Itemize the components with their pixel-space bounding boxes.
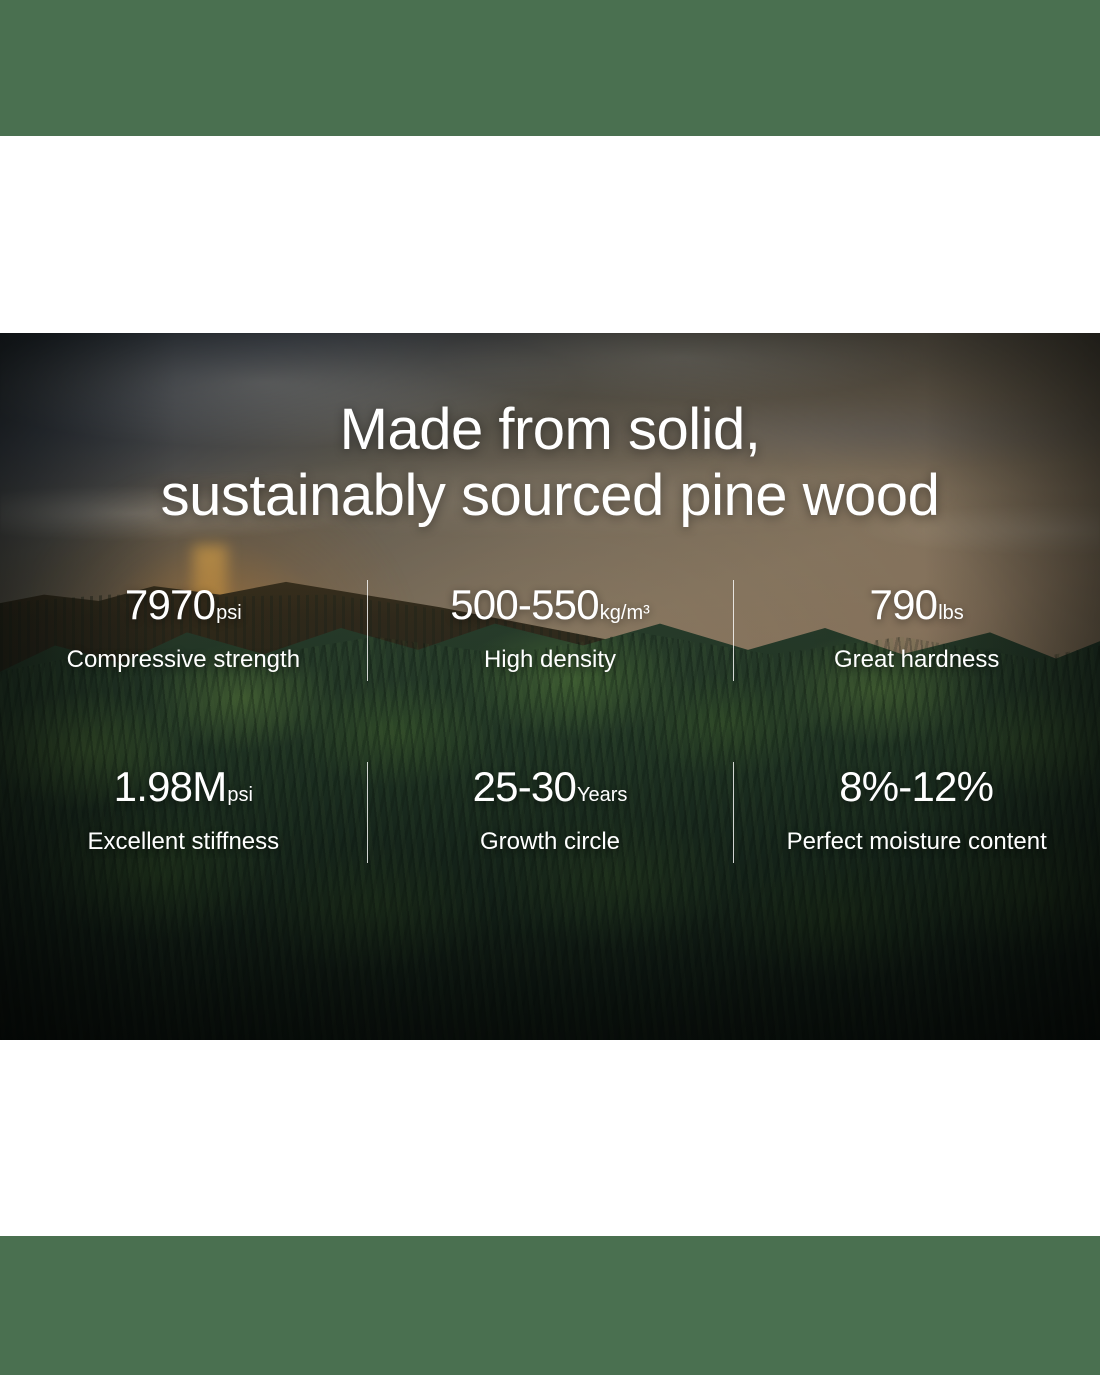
stat-value: 1.98Mpsi xyxy=(114,766,253,808)
page-title: Made from solid, sustainably sourced pin… xyxy=(0,397,1100,528)
stat-compressive-strength: 7970psi Compressive strength xyxy=(0,584,367,672)
stat-unit: lbs xyxy=(938,602,964,624)
stat-number: 790 xyxy=(870,581,938,628)
stat-value: 25-30Years xyxy=(473,766,628,808)
stat-excellent-stiffness: 1.98Mpsi Excellent stiffness xyxy=(0,766,367,854)
stat-number: 500-550 xyxy=(450,581,599,628)
stat-number: 8%-12% xyxy=(839,763,993,810)
stat-label: Growth circle xyxy=(480,830,620,854)
stat-growth-circle: 25-30Years Growth circle xyxy=(367,766,734,854)
hero-banner: Made from solid, sustainably sourced pin… xyxy=(0,333,1100,1040)
page-root: Made from solid, sustainably sourced pin… xyxy=(0,0,1100,1375)
hero-content: Made from solid, sustainably sourced pin… xyxy=(0,333,1100,1040)
stats-row: 7970psi Compressive strength 500-550kg/m… xyxy=(0,584,1100,672)
stat-value: 500-550kg/m³ xyxy=(450,584,650,626)
stat-number: 1.98M xyxy=(114,763,227,810)
bottom-brand-band xyxy=(0,1236,1100,1375)
stat-number: 25-30 xyxy=(473,763,576,810)
top-brand-band xyxy=(0,0,1100,136)
stat-high-density: 500-550kg/m³ High density xyxy=(367,584,734,672)
stat-label: Perfect moisture content xyxy=(787,830,1047,854)
stat-number: 7970 xyxy=(125,581,215,628)
stat-value: 7970psi xyxy=(125,584,242,626)
stats-row: 1.98Mpsi Excellent stiffness 25-30Years … xyxy=(0,766,1100,854)
stat-value: 8%-12% xyxy=(839,766,994,808)
stat-unit: psi xyxy=(227,784,253,806)
stat-label: Excellent stiffness xyxy=(88,830,280,854)
headline-line-2: sustainably sourced pine wood xyxy=(0,463,1100,529)
stats-grid: 7970psi Compressive strength 500-550kg/m… xyxy=(0,584,1100,854)
stat-label: High density xyxy=(484,648,616,672)
stat-unit: kg/m³ xyxy=(600,602,650,624)
stat-unit: psi xyxy=(216,602,242,624)
stat-moisture-content: 8%-12% Perfect moisture content xyxy=(733,766,1100,854)
stat-unit: Years xyxy=(577,784,627,806)
stat-great-hardness: 790lbs Great hardness xyxy=(733,584,1100,672)
stat-label: Compressive strength xyxy=(67,648,300,672)
stat-value: 790lbs xyxy=(870,584,964,626)
stat-label: Great hardness xyxy=(834,648,999,672)
headline-line-1: Made from solid, xyxy=(0,397,1100,463)
